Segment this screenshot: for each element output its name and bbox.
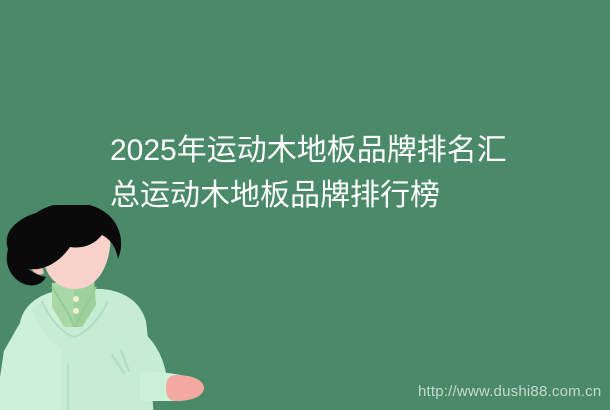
hand-shape <box>166 375 204 401</box>
person-illustration <box>0 205 220 410</box>
article-banner: 2025年运动木地板品牌排名汇总运动木地板品牌排行榜 http://www.du… <box>0 0 610 410</box>
watermark-url: http://www.dushi88.com.cn <box>418 383 601 401</box>
page-title: 2025年运动木地板品牌排名汇总运动木地板品牌排行榜 <box>110 128 530 218</box>
